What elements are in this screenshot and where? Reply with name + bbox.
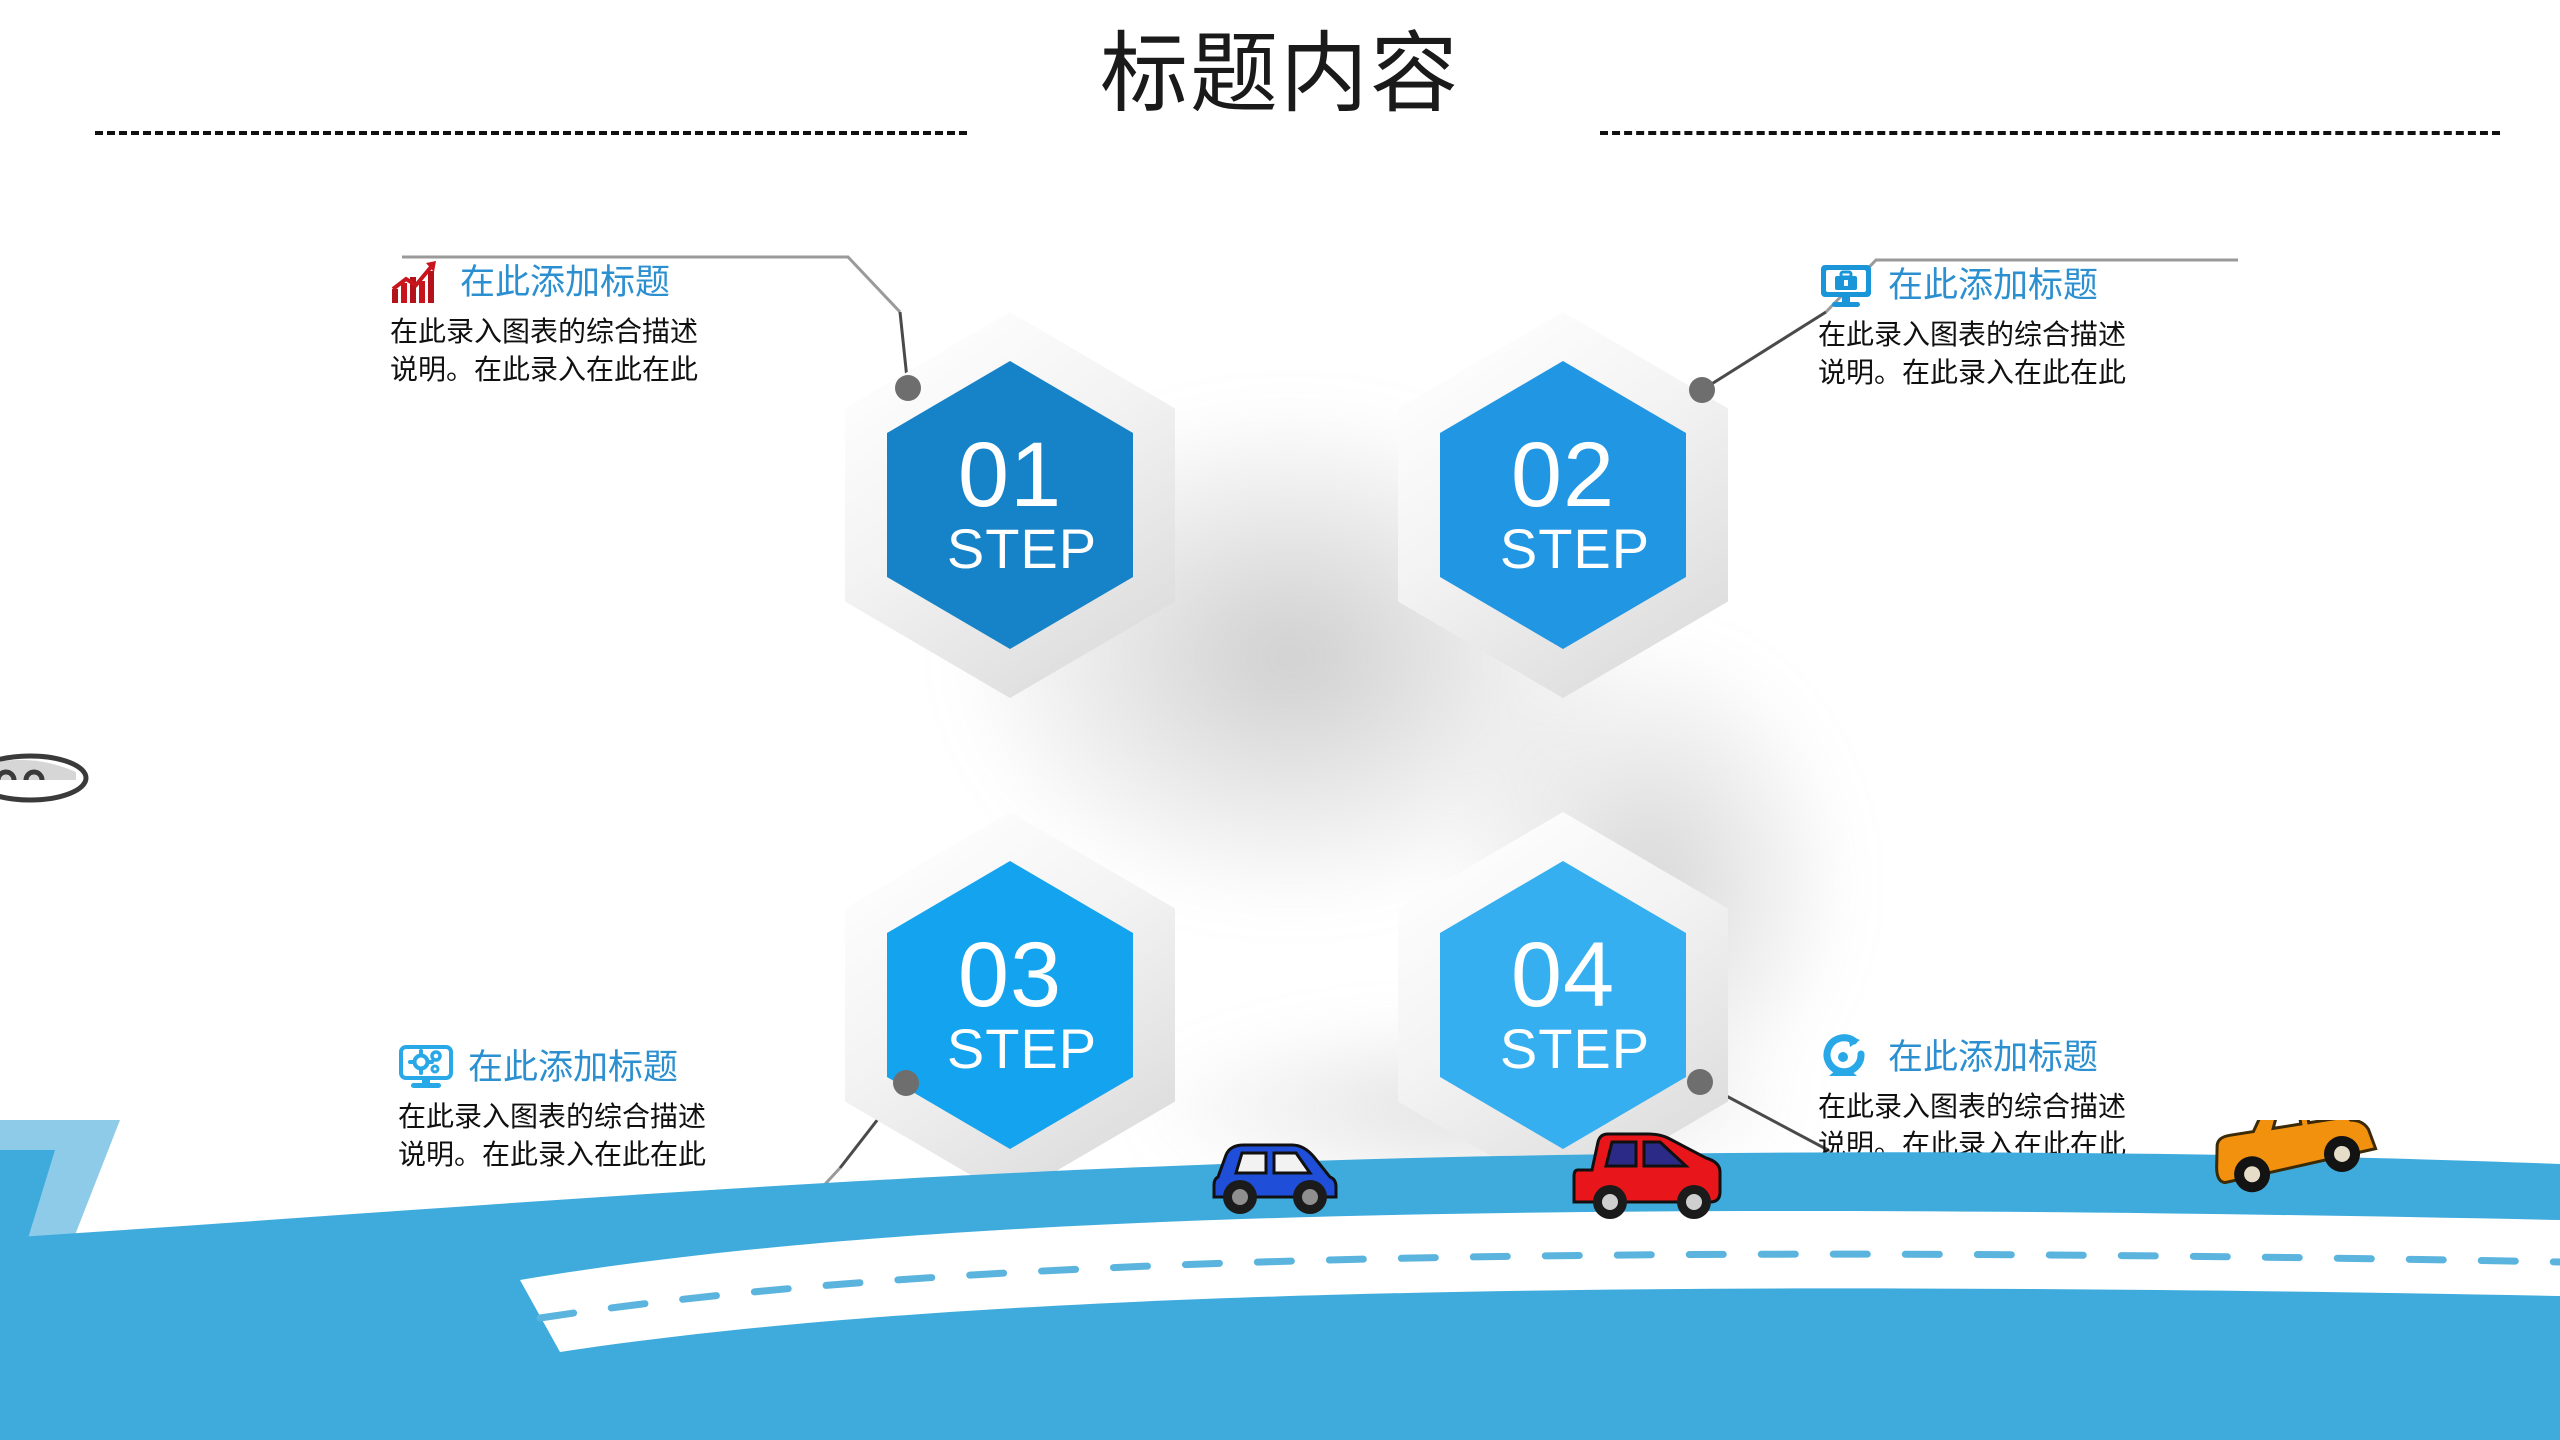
callout-header: 在此添加标题 bbox=[390, 255, 810, 309]
connector-dot-01 bbox=[895, 375, 921, 401]
step-number: 02 bbox=[1511, 431, 1615, 519]
connector-dot-02 bbox=[1689, 377, 1715, 403]
step-hexagon-02[interactable]: 02 STEP bbox=[1398, 312, 1728, 698]
callout-body: 在此录入图表的综合描述 说明。在此录入在此在此 bbox=[390, 313, 810, 389]
page-title: 标题内容 bbox=[0, 28, 2560, 120]
callout-title: 在此添加标题 bbox=[468, 1050, 678, 1085]
title-rule-left bbox=[95, 131, 967, 135]
callout-header: 在此添加标题 bbox=[398, 1040, 818, 1094]
callout-body: 在此录入图表的综合描述 说明。在此录入在此在此 bbox=[1818, 316, 2238, 392]
connector-dot-04 bbox=[1687, 1069, 1713, 1095]
step-label: STEP bbox=[947, 521, 1097, 577]
bottom-road-scene bbox=[0, 1120, 2560, 1440]
step-number: 04 bbox=[1511, 931, 1615, 1019]
monitor-briefcase-icon bbox=[1818, 262, 1874, 308]
callout-title: 在此添加标题 bbox=[460, 265, 670, 300]
step-number: 01 bbox=[958, 431, 1062, 519]
callout-body-line-1: 在此录入图表的综合描述 bbox=[390, 313, 810, 351]
left-edge-doodle-icon bbox=[0, 740, 100, 820]
callout-01[interactable]: 在此添加标题 在此录入图表的综合描述 说明。在此录入在此在此 bbox=[390, 255, 810, 389]
callout-body-line-1: 在此录入图表的综合描述 bbox=[1818, 316, 2238, 354]
step-label: STEP bbox=[1500, 521, 1650, 577]
step-label: STEP bbox=[1500, 1021, 1650, 1077]
callout-body-line-2: 说明。在此录入在此在此 bbox=[1818, 354, 2238, 392]
callout-body-line-2: 说明。在此录入在此在此 bbox=[390, 351, 810, 389]
monitor-gears-icon bbox=[398, 1044, 454, 1090]
callout-header: 在此添加标题 bbox=[1818, 1030, 2238, 1084]
step-number: 03 bbox=[958, 931, 1062, 1019]
title-rule-right bbox=[1600, 131, 2500, 135]
callout-title: 在此添加标题 bbox=[1888, 268, 2098, 303]
bar-chart-growth-icon bbox=[390, 259, 446, 305]
connector-dot-03 bbox=[893, 1070, 919, 1096]
step-label: STEP bbox=[947, 1021, 1097, 1077]
callout-header: 在此添加标题 bbox=[1818, 258, 2238, 312]
step-hexagon-01[interactable]: 01 STEP bbox=[845, 312, 1175, 698]
callout-02[interactable]: 在此添加标题 在此录入图表的综合描述 说明。在此录入在此在此 bbox=[1818, 258, 2238, 392]
slide-canvas: 标题内容 01 STEP 02 bbox=[0, 0, 2560, 1440]
callout-title: 在此添加标题 bbox=[1888, 1040, 2098, 1075]
refresh-person-icon bbox=[1818, 1034, 1874, 1080]
